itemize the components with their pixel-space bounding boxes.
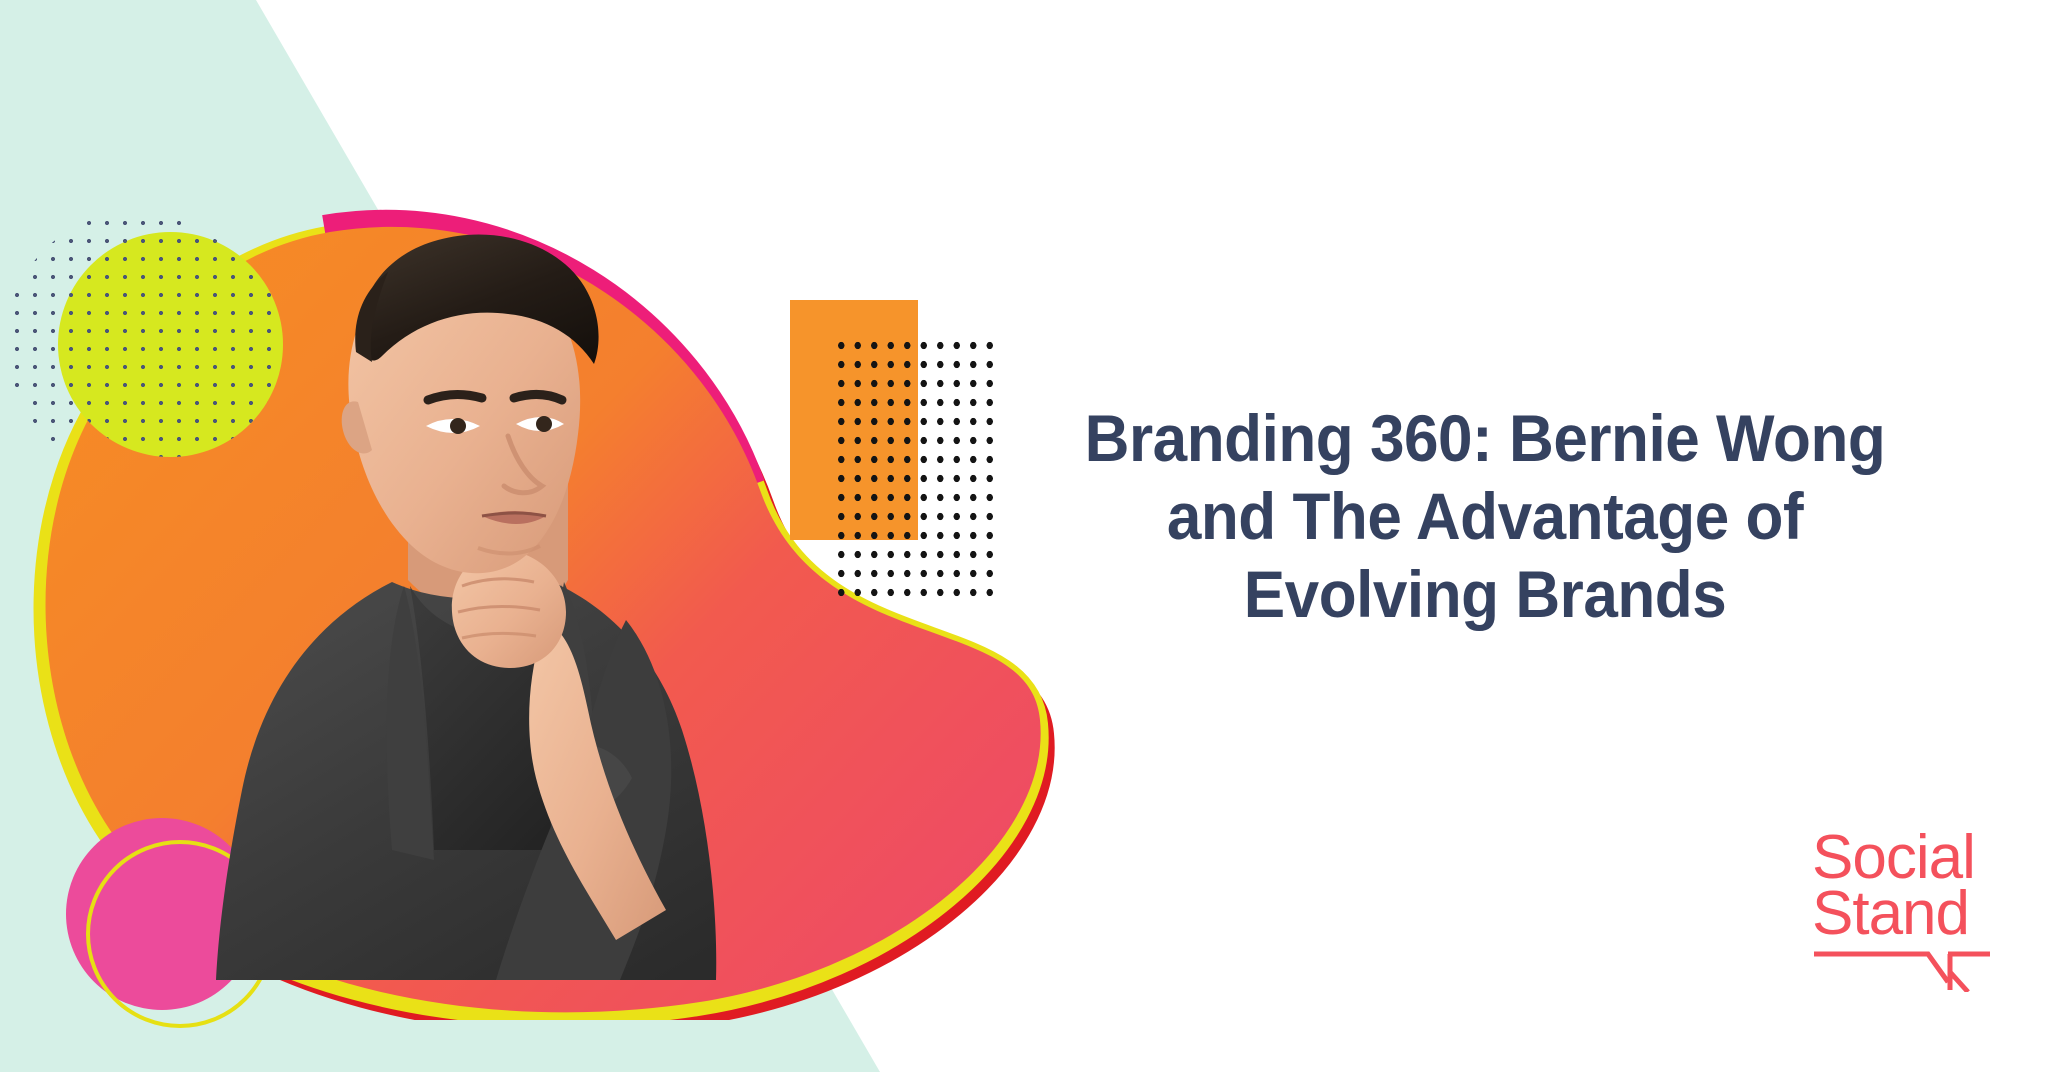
logo-text-line-2: Stand [1812,879,1969,948]
speech-bubble-tail-icon [1814,954,1990,992]
page-title-line-2: and The Advantage of [1010,478,1959,556]
page-title-line-1: Branding 360: Bernie Wong [1010,400,1959,478]
black-dot-grid-decoration [830,333,995,601]
banner-canvas: Branding 360: Bernie Wong and The Advant… [0,0,2048,1072]
page-title-line-3: Evolving Brands [1010,556,1959,634]
portrait-photo [196,150,816,980]
social-stand-logo[interactable]: Social Stand [1812,822,2012,992]
page-title: Branding 360: Bernie Wong and The Advant… [1010,400,1959,634]
